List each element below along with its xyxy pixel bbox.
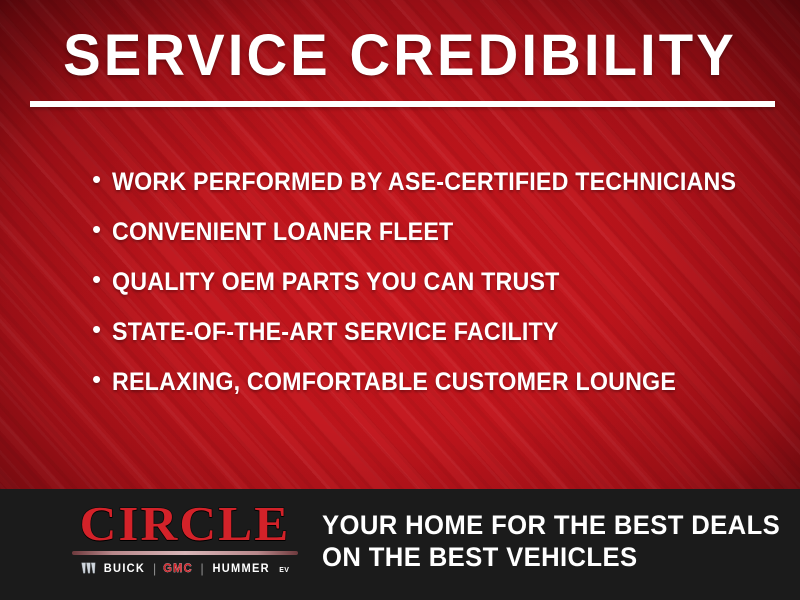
footer-tagline-line-2: ON THE BEST VEHICLES (322, 541, 780, 573)
list-item-label: QUALITY OEM PARTS YOU CAN TRUST (112, 268, 735, 296)
list-item: • CONVENIENT LOANER FLEET (92, 218, 782, 268)
list-item-label: STATE-OF-THE-ART SERVICE FACILITY (112, 318, 735, 346)
list-item-label: CONVENIENT LOANER FLEET (112, 218, 735, 246)
list-item: • WORK PERFORMED BY ASE-CERTIFIED TECHNI… (92, 168, 782, 218)
dealer-logo[interactable]: CIRCLE BUICK | GMC (72, 499, 298, 576)
bullet-dot-icon: • (92, 366, 112, 392)
bullet-dot-icon: • (92, 316, 112, 342)
brand-label-buick: BUICK (104, 562, 145, 574)
brand-strip: BUICK | GMC | HUMMER EV (72, 560, 298, 576)
footer-tagline: YOUR HOME FOR THE BEST DEALS ON THE BEST… (322, 509, 780, 573)
footer-bar: CIRCLE BUICK | GMC (0, 489, 800, 600)
dealer-logo-wordmark: CIRCLE (67, 499, 302, 548)
bullet-dot-icon: • (92, 166, 112, 192)
service-credibility-slide: SERVICE CREDIBILITY • WORK PERFORMED BY … (0, 0, 800, 600)
logo-divider-bar (72, 551, 298, 555)
brand-label-hummer-ev-suffix: EV (279, 567, 289, 574)
brand-label-hummer: HUMMER (212, 562, 269, 574)
buick-tri-shield-icon (81, 562, 96, 574)
page-title: SERVICE CREDIBILITY (12, 24, 788, 88)
bullet-list: • WORK PERFORMED BY ASE-CERTIFIED TECHNI… (92, 168, 782, 418)
list-item-label: WORK PERFORMED BY ASE-CERTIFIED TECHNICI… (112, 168, 736, 196)
list-item: • RELAXING, COMFORTABLE CUSTOMER LOUNGE (92, 368, 782, 418)
bullet-dot-icon: • (92, 266, 112, 292)
list-item: • STATE-OF-THE-ART SERVICE FACILITY (92, 318, 782, 368)
list-item: • QUALITY OEM PARTS YOU CAN TRUST (92, 268, 782, 318)
bullet-dot-icon: • (92, 216, 112, 242)
list-item-label: RELAXING, COMFORTABLE CUSTOMER LOUNGE (112, 368, 735, 396)
title-underline-rule (30, 101, 775, 107)
brand-label-gmc: GMC (164, 562, 194, 574)
brand-separator: | (153, 562, 156, 575)
footer-tagline-line-1: YOUR HOME FOR THE BEST DEALS (322, 509, 780, 541)
brand-separator: | (200, 562, 203, 575)
